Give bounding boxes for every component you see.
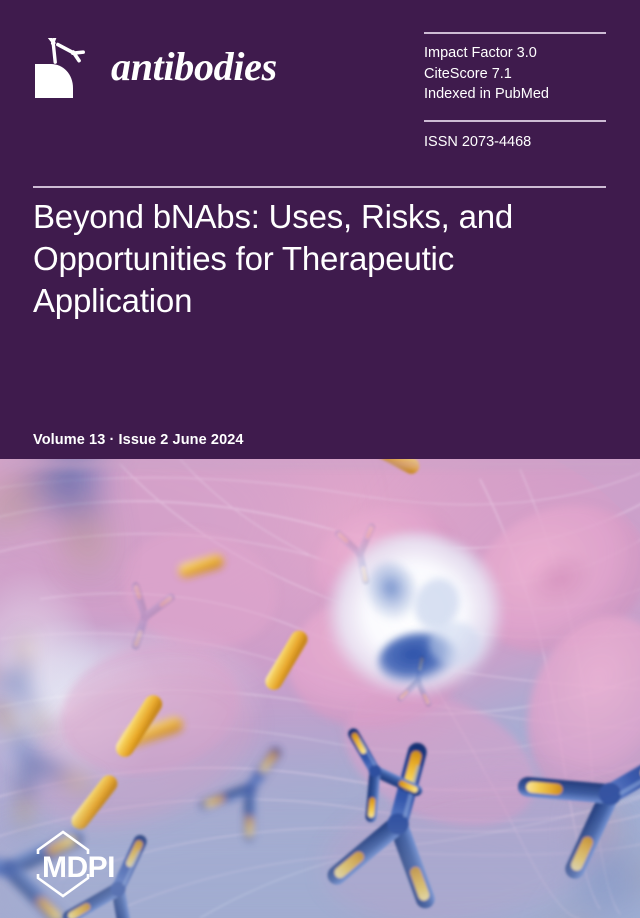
cover-header-panel: antibodies Impact Factor 3.0 CiteScore 7… [0, 0, 640, 459]
citescore: CiteScore 7.1 [424, 64, 606, 85]
indexing-status: Indexed in PubMed [424, 84, 606, 105]
journal-wordmark: antibodies [111, 47, 277, 91]
metrics-divider-bottom [424, 120, 606, 122]
journal-metrics: Impact Factor 3.0 CiteScore 7.1 Indexed … [424, 32, 606, 152]
volume-issue-date: Volume 13 · Issue 2 June 2024 [33, 432, 244, 448]
impact-factor: Impact Factor 3.0 [424, 43, 606, 64]
issn: ISSN 2073-4468 [424, 132, 606, 153]
mdpi-wordmark: MDPI [42, 851, 115, 884]
issue-title: Beyond bNAbs: Uses, Risks, and Opportuni… [33, 196, 613, 322]
mdpi-hexagon-logo-icon[interactable]: MDPI [34, 828, 134, 900]
journal-cover: antibodies Impact Factor 3.0 CiteScore 7… [0, 0, 640, 918]
metrics-divider-top [424, 32, 606, 34]
antibody-flask-logo-icon [33, 38, 89, 100]
masthead: antibodies [33, 38, 277, 100]
title-divider [33, 186, 606, 188]
